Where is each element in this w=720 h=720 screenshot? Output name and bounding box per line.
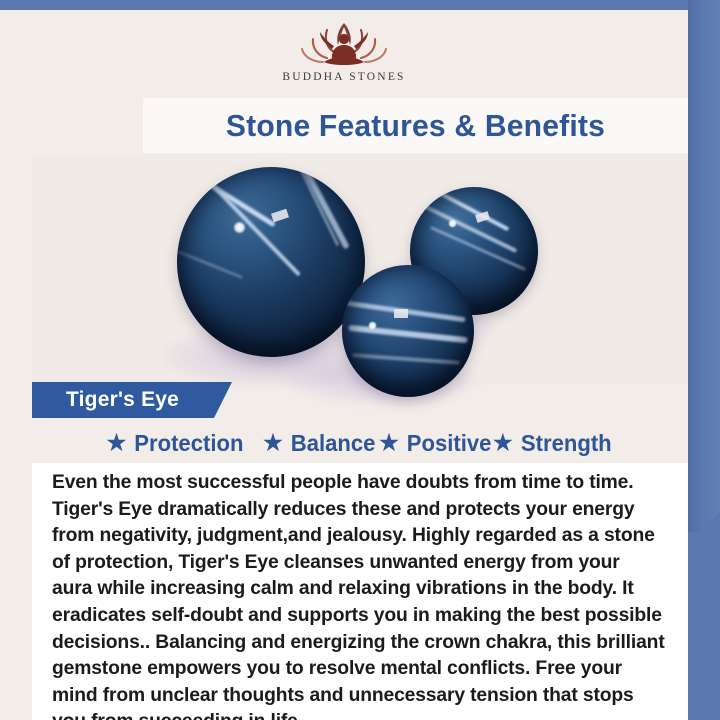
brand-logo: BUDDHA STONES [0,10,688,90]
content-card: BUDDHA STONES Stone Features & Benefits [0,10,688,720]
benefit-label: Positive [407,430,492,457]
brand-name: BUDDHA STONES [282,71,405,83]
benefit-item-protection: ★ Protection [107,430,246,457]
stone-name-label: Tiger's Eye [32,388,179,412]
description-panel: Even the most successful people have dou… [32,463,688,720]
benefit-item-balance: ★ Balance [263,430,377,457]
description-text: Even the most successful people have dou… [52,469,665,720]
hero-image [32,155,688,385]
lotus-meditation-figure-icon [280,18,408,70]
benefit-label: Strength [521,430,612,457]
poster-root: BUDDHA STONES Stone Features & Benefits [0,0,720,720]
benefit-label: Balance [291,430,376,457]
benefit-label: Protection [135,430,244,457]
benefit-item-strength: ★ Strength [493,430,613,457]
page-title: Stone Features & Benefits [226,108,605,144]
stone-name-tab: Tiger's Eye [32,382,232,418]
gemstone-sphere-small [342,265,474,397]
benefit-item-positive: ★ Positive [379,430,493,457]
frame-right-strip [688,0,720,532]
title-banner: Stone Features & Benefits [143,98,688,153]
frame-top-strip [0,0,720,10]
benefits-row: ★ Protection ★ Balance ★ Positive ★ Stre… [32,424,688,462]
star-icon: ★ [263,432,283,454]
star-icon: ★ [493,432,513,454]
star-icon: ★ [379,432,399,454]
gemstone-sphere-large [177,167,365,357]
star-icon: ★ [107,432,127,454]
